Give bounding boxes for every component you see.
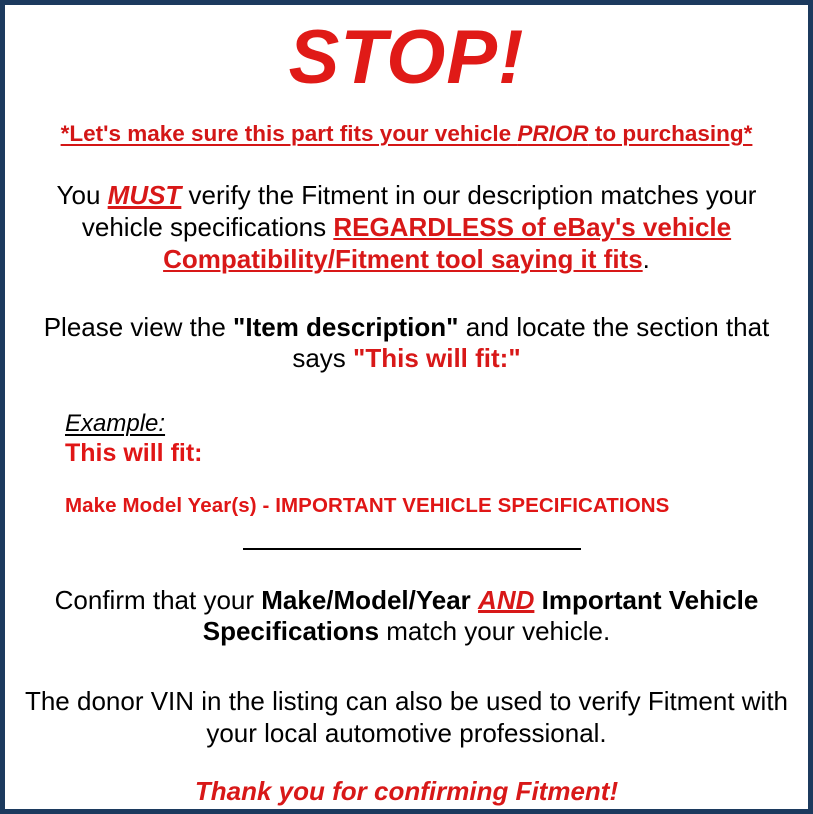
paragraph-donor-vin: The donor VIN in the listing can also be… <box>19 686 794 749</box>
paragraph-must-verify: You MUST verify the Fitment in our descr… <box>19 180 794 275</box>
horizontal-divider <box>243 548 581 550</box>
subtitle-emphasis-prior: PRIOR <box>517 121 588 146</box>
confirm-tail-text: match your vehicle. <box>379 616 610 646</box>
bold-item-description: "Item description" <box>233 312 458 342</box>
paragraph-item-description: Please view the "Item description" and l… <box>19 312 794 375</box>
thank-you-line: Thank you for confirming Fitment! <box>19 776 794 807</box>
paragraph-confirm: Confirm that your Make/Model/Year AND Im… <box>19 585 794 648</box>
example-label-row: Example: <box>65 411 794 436</box>
subtitle-part-2: to purchasing* <box>589 121 753 146</box>
example-spec-line: Make Model Year(s) - IMPORTANT VEHICLE S… <box>65 494 794 519</box>
notice-content: STOP! *Let's make sure this part fits yo… <box>5 5 808 809</box>
bold-make-model-year: Make/Model/Year <box>261 585 471 615</box>
description-lead-text: Please view the <box>44 312 233 342</box>
emphasis-and: AND <box>478 585 534 615</box>
example-fit-heading: This will fit: <box>65 438 794 468</box>
must-tail-text: . <box>643 244 650 274</box>
fitment-notice-card: STOP! *Let's make sure this part fits yo… <box>0 0 813 814</box>
page-title: STOP! <box>19 19 794 97</box>
emphasis-must: MUST <box>108 180 182 210</box>
confirm-lead-text: Confirm that your <box>55 585 262 615</box>
confirm-space-2 <box>534 585 541 615</box>
divider-wrap <box>19 537 794 555</box>
subtitle-banner: *Let's make sure this part fits your veh… <box>19 121 794 147</box>
confirm-space-1 <box>471 585 478 615</box>
subtitle-part-1: *Let's make sure this part fits your veh… <box>61 121 518 146</box>
red-this-will-fit: "This will fit:" <box>353 343 521 373</box>
example-label: Example: <box>65 411 165 436</box>
example-block: Example: This will fit: Make Model Year(… <box>19 411 794 519</box>
must-lead-text: You <box>57 180 108 210</box>
